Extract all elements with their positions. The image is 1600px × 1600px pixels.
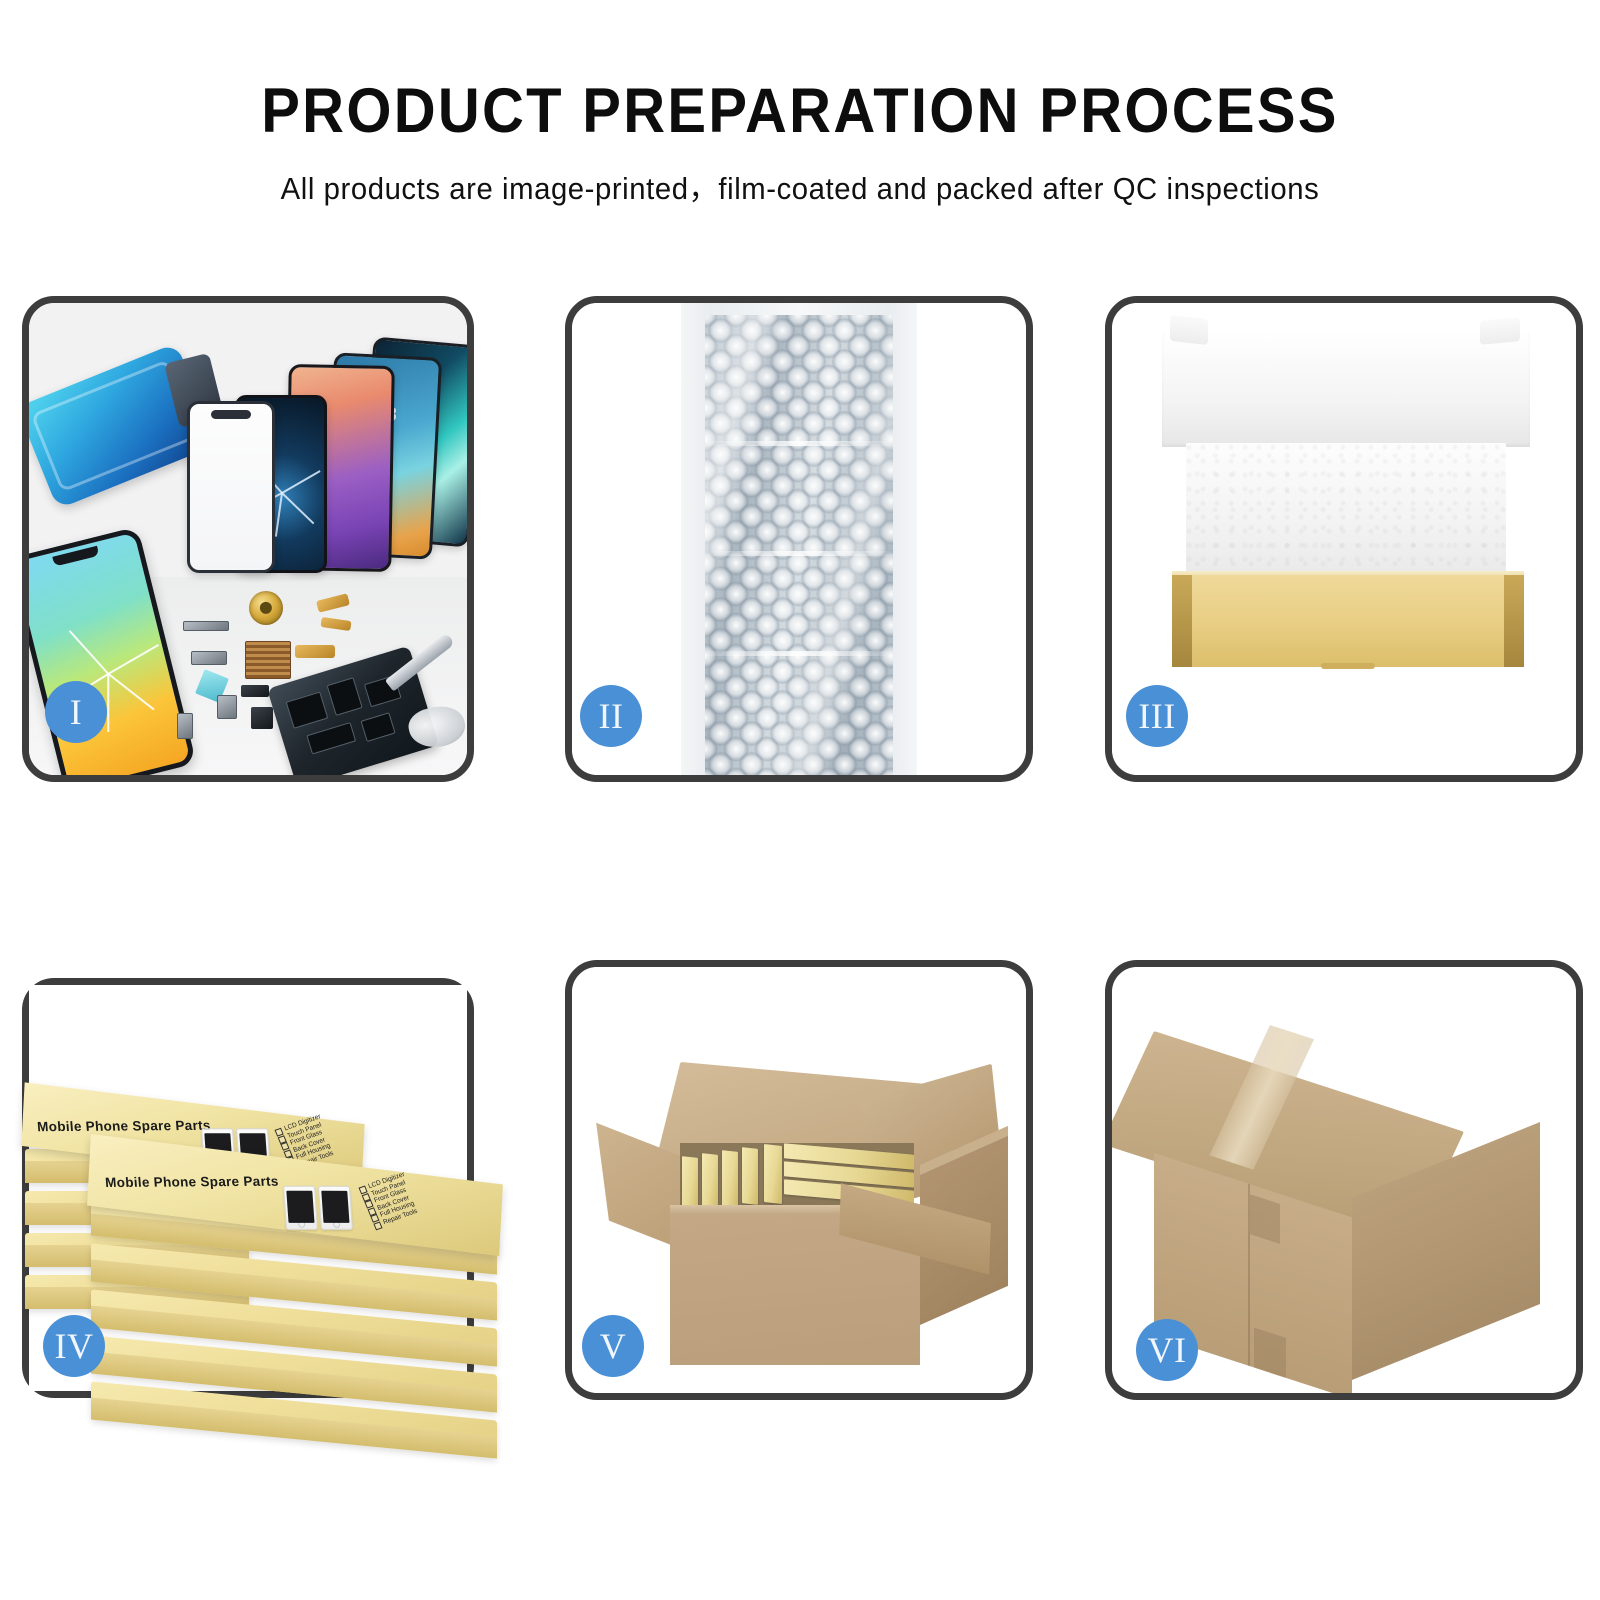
mailer-tab <box>1321 663 1375 669</box>
notch-cutout <box>211 410 251 419</box>
component-bracket <box>191 651 227 665</box>
board-chip <box>306 722 356 755</box>
mailer-foam-insert <box>1186 443 1506 585</box>
notch-cutout <box>52 546 99 567</box>
retail-box-in-carton <box>764 1144 782 1204</box>
process-step-panel-2[interactable]: II <box>565 296 1033 782</box>
crack-line <box>108 644 159 675</box>
carton-seam <box>1248 1184 1250 1367</box>
retail-box-in-carton <box>722 1150 738 1208</box>
retail-box-brand-label: Mobile Phone Spare Parts <box>37 1118 212 1134</box>
component-chip <box>251 707 273 729</box>
retail-box-brand-label: Mobile Phone Spare Parts <box>105 1174 280 1190</box>
retail-box-in-carton <box>742 1147 758 1205</box>
home-button-icon <box>333 1221 340 1228</box>
panel-2-image <box>572 303 1026 775</box>
wrap-seam <box>705 651 893 656</box>
product-photo-thumb <box>318 1186 353 1230</box>
product-photo-thumb <box>283 1186 318 1230</box>
component-flex-cable <box>295 645 335 658</box>
step-badge-4: IV <box>43 1315 105 1377</box>
bubble-wrap-wrapped-product <box>705 315 893 775</box>
process-step-panel-1[interactable]: 08:08 Thu, May 28 <box>22 296 474 782</box>
crack-line <box>281 492 314 524</box>
crack-line <box>69 630 109 674</box>
home-button-icon <box>298 1221 305 1228</box>
step-badge-1: I <box>45 681 107 743</box>
process-step-grid: 08:08 Thu, May 28 <box>0 0 1600 1600</box>
step-badge-5: V <box>582 1315 644 1377</box>
retail-box-in-carton <box>702 1153 718 1211</box>
crack-line <box>108 674 110 732</box>
plastic-gloss-highlight <box>705 315 893 775</box>
mailer-box-front <box>1172 575 1524 667</box>
crack-line <box>108 673 155 710</box>
panel-5-image <box>572 967 1026 1393</box>
step-badge-2: II <box>580 685 642 747</box>
retail-box-stack: Mobile Phone Spare Parts LCD Digitizer T… <box>25 1019 565 1489</box>
component-camera <box>217 695 237 719</box>
board-chip <box>286 692 329 729</box>
crack-line <box>282 470 321 494</box>
process-step-panel-5[interactable]: V <box>565 960 1033 1400</box>
step-badge-3: III <box>1126 685 1188 747</box>
retail-box-in-carton <box>682 1156 698 1211</box>
component-connector-strip <box>183 621 229 631</box>
board-chip <box>327 677 363 716</box>
process-step-panel-4[interactable]: Mobile Phone Spare Parts LCD Digitizer T… <box>22 978 474 1398</box>
step-badge-6: VI <box>1136 1319 1198 1381</box>
component-speaker-coil <box>249 591 283 625</box>
board-chip <box>360 712 395 742</box>
checkbox-icon <box>373 1221 382 1230</box>
open-shipping-carton <box>602 1055 1002 1385</box>
retail-box-product-photo <box>283 1186 353 1230</box>
carton-tab-mark <box>1250 1194 1280 1244</box>
wrap-seam <box>705 551 893 556</box>
component-ic-shield <box>245 641 291 679</box>
process-step-panel-6[interactable]: VI <box>1105 960 1583 1400</box>
component-sim-tray <box>177 713 193 739</box>
process-step-panel-3[interactable]: III <box>1105 296 1583 782</box>
wrap-seam <box>705 441 893 446</box>
screen-protector-glass <box>187 401 275 573</box>
sealed-shipping-carton <box>1140 1017 1560 1367</box>
mailer-box-lid <box>1162 331 1530 447</box>
component-chip <box>241 685 269 697</box>
retail-box-checklist: LCD Digitizer Touch Panel Front Glass Ba… <box>359 1172 421 1230</box>
crack-line <box>275 492 283 536</box>
